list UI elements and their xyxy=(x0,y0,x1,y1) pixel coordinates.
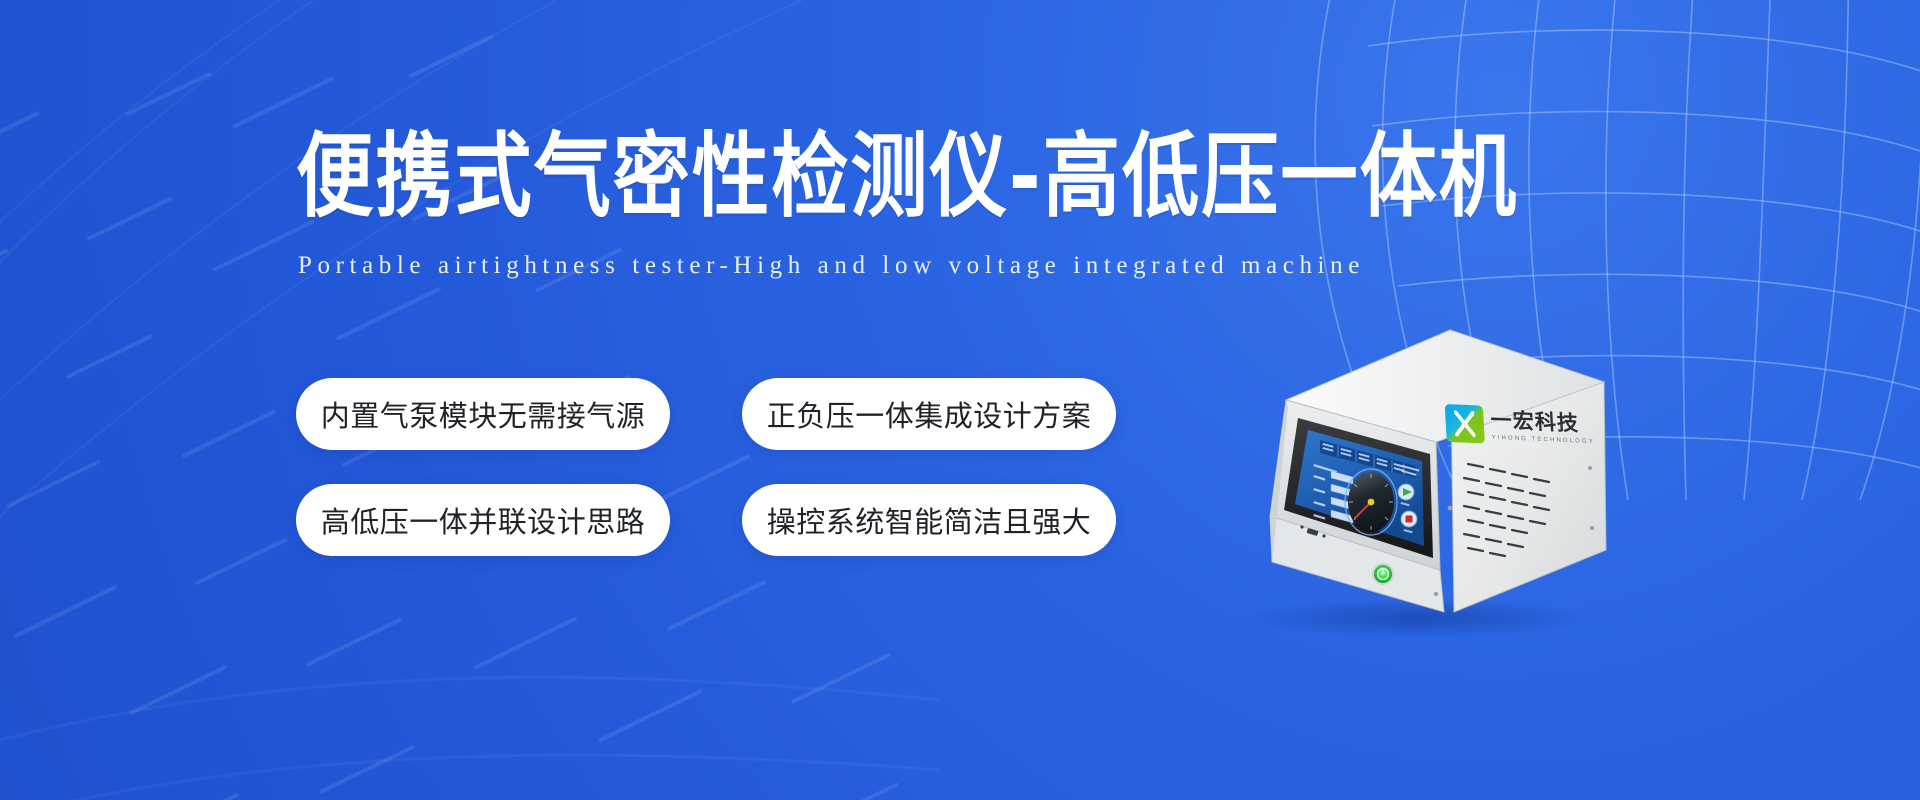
yihong-logo-icon xyxy=(1445,404,1485,444)
screen-gauge xyxy=(1345,469,1397,535)
feature-list: 内置气泵模块无需接气源 正负压一体集成设计方案 高低压一体并联设计思路 操控系统… xyxy=(296,378,1116,590)
screen-start-button xyxy=(1398,484,1414,500)
page-subtitle: Portable airtightness tester-High and lo… xyxy=(298,252,1365,280)
gauge-hub xyxy=(1368,499,1375,506)
feature-row: 高低压一体并联设计思路 操控系统智能简洁且强大 xyxy=(296,484,1116,556)
feature-row: 内置气泵模块无需接气源 正负压一体集成设计方案 xyxy=(296,378,1116,450)
promo-banner: 便携式气密性检测仪-高低压一体机 Portable airtightness t… xyxy=(0,0,1920,800)
brand-logo-text: 一宏科技 YIHONG TECHNOLOGY xyxy=(1490,409,1595,444)
feature-pill-2[interactable]: 正负压一体集成设计方案 xyxy=(742,378,1116,450)
product-image xyxy=(1168,312,1628,642)
feature-pill-3[interactable]: 高低压一体并联设计思路 xyxy=(296,484,670,556)
feature-pill-4[interactable]: 操控系统智能简洁且强大 xyxy=(742,484,1116,556)
screen-stop-button xyxy=(1401,511,1417,527)
brand-name-cn: 一宏科技 xyxy=(1490,409,1595,434)
page-title: 便携式气密性检测仪-高低压一体机 xyxy=(296,128,1642,227)
feature-pill-1[interactable]: 内置气泵模块无需接气源 xyxy=(296,378,670,450)
brand-name-en: YIHONG TECHNOLOGY xyxy=(1491,434,1595,444)
brand-logo: 一宏科技 YIHONG TECHNOLOGY xyxy=(1444,392,1608,461)
power-button xyxy=(1372,563,1394,585)
